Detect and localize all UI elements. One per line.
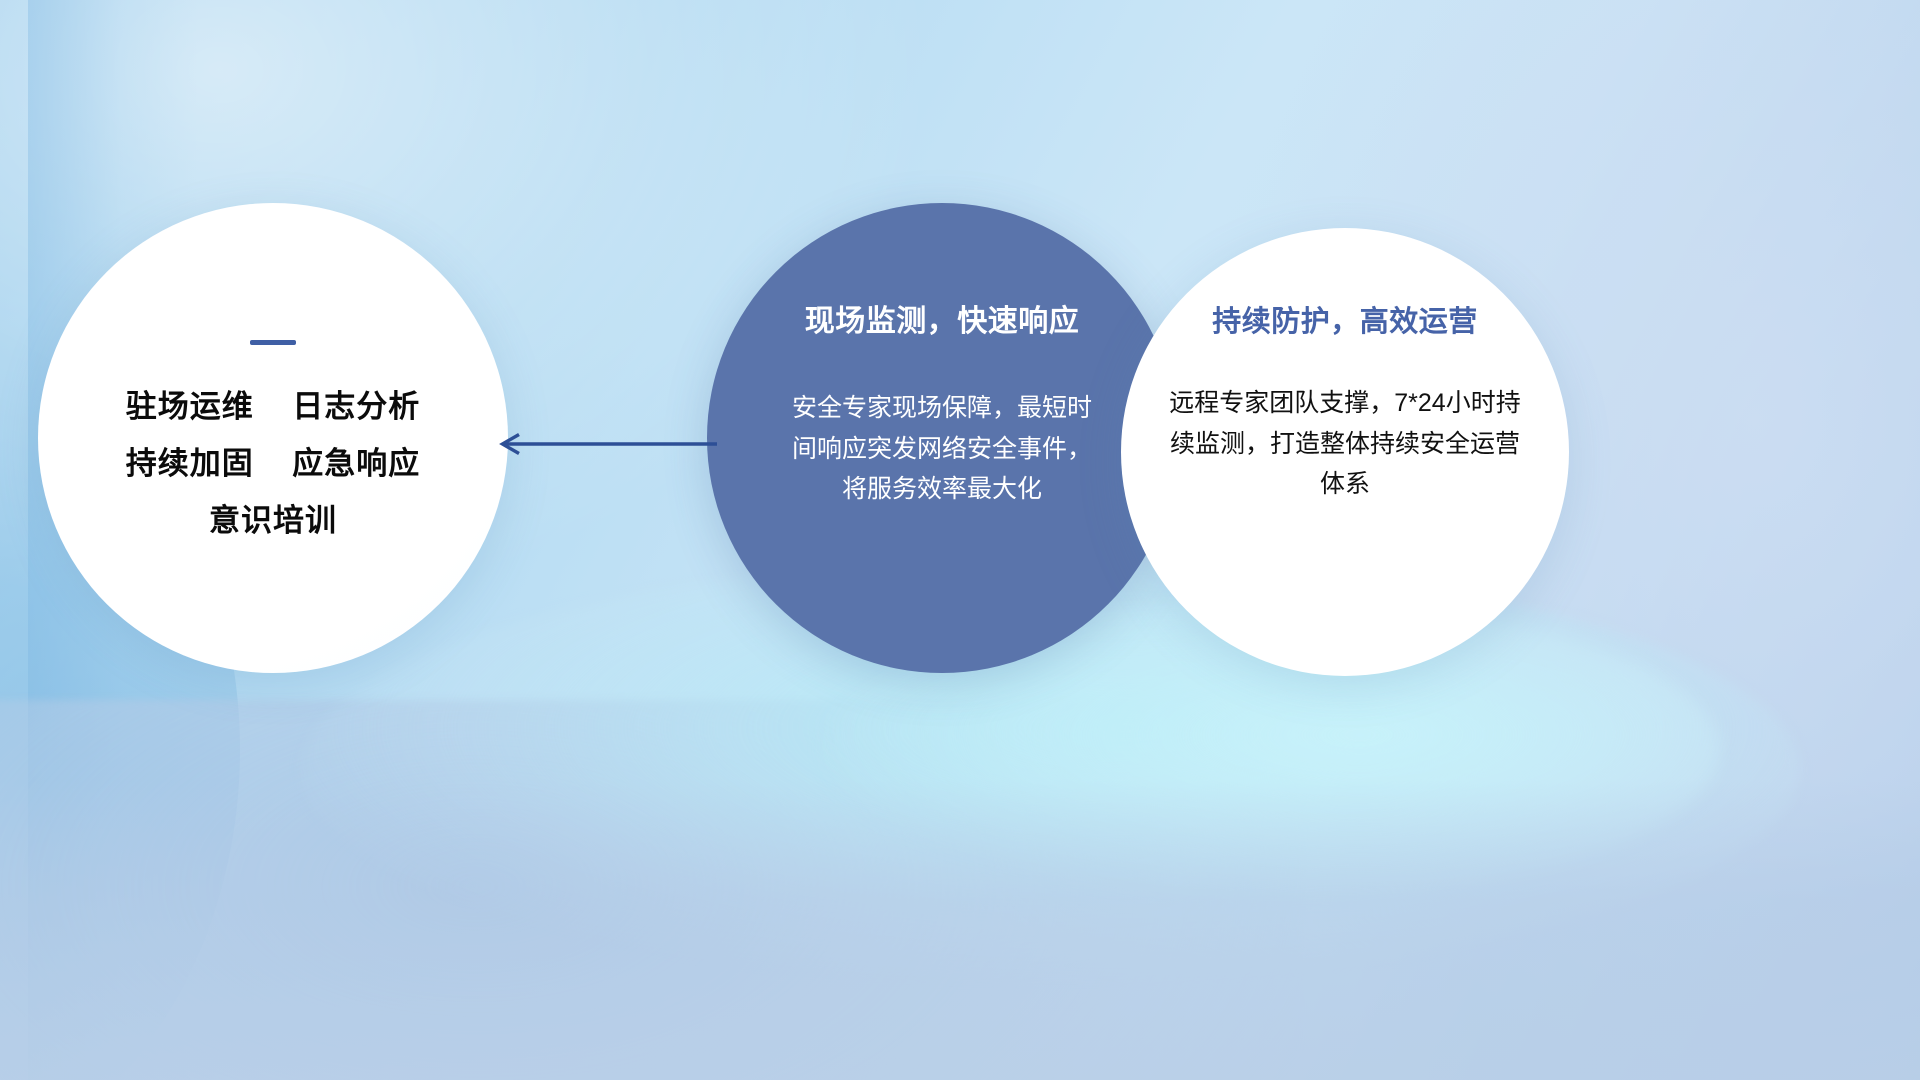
- divider-dash: [250, 340, 296, 345]
- arrow-icon: [489, 432, 719, 456]
- left-circle-line-2: 持续加固 应急响应: [126, 448, 420, 479]
- left-circle-keyword-list: 驻场运维 日志分析 持续加固 应急响应 意识培训: [126, 391, 420, 536]
- left-circle-node[interactable]: 驻场运维 日志分析 持续加固 应急响应 意识培训: [38, 203, 508, 673]
- center-circle-node[interactable]: 现场监测，快速响应 安全专家现场保障，最短时间响应突发网络安全事件，将服务效率最…: [707, 203, 1177, 673]
- left-circle-line-1: 驻场运维 日志分析: [126, 391, 420, 422]
- center-circle-title: 现场监测，快速响应: [805, 296, 1080, 340]
- left-circle-line-3: 意识培训: [209, 505, 337, 536]
- flow-arrow: [489, 432, 719, 456]
- right-circle-body: 远程专家团队支撑，7*24小时持续监测，打造整体持续安全运营体系: [1165, 383, 1525, 505]
- center-circle-body: 安全专家现场保障，最短时间响应突发网络安全事件，将服务效率最大化: [792, 388, 1092, 510]
- right-circle-node[interactable]: 持续防护，高效运营 远程专家团队支撑，7*24小时持续监测，打造整体持续安全运营…: [1121, 228, 1569, 676]
- right-circle-title: 持续防护，高效运营: [1212, 298, 1478, 340]
- diagram-canvas: 驻场运维 日志分析 持续加固 应急响应 意识培训 现场监测，快速响应 安全专家现…: [0, 0, 1920, 1080]
